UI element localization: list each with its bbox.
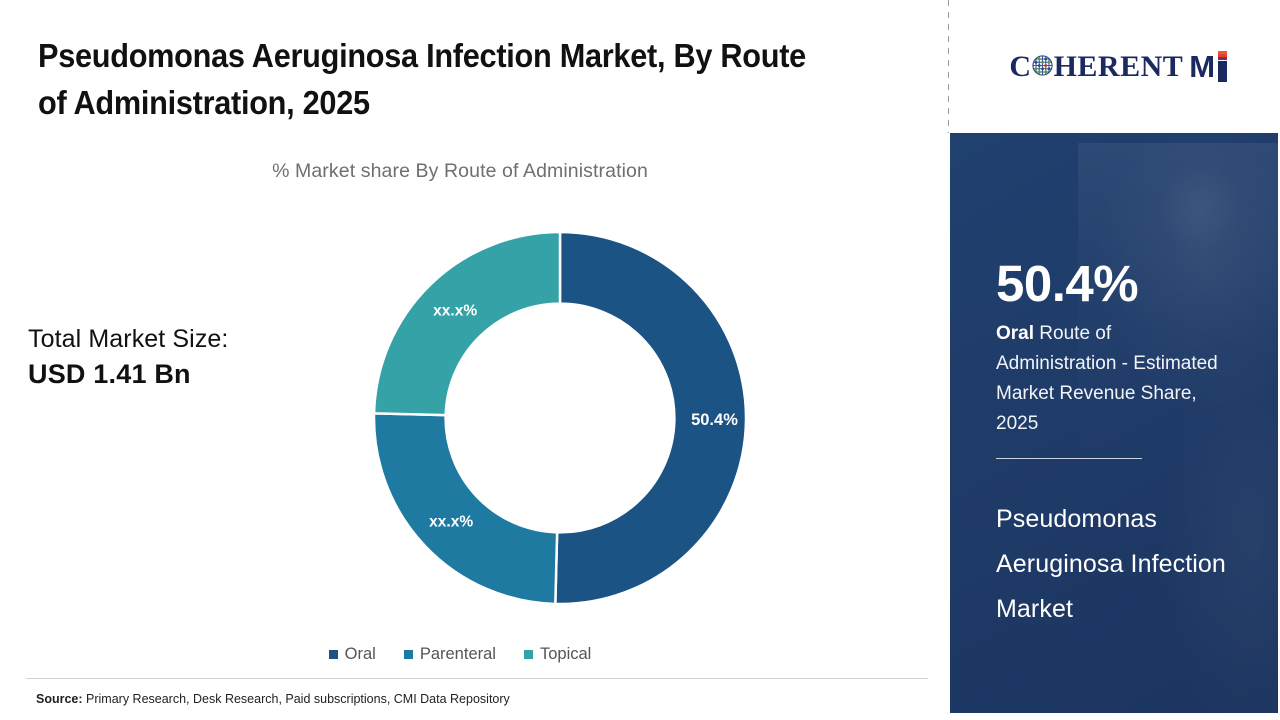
legend-item-topical[interactable]: Topical xyxy=(524,645,591,664)
legend-label: Oral xyxy=(345,645,376,664)
source-label: Source: xyxy=(36,692,83,706)
legend-swatch-icon xyxy=(404,650,413,659)
highlight-market-name: Pseudomonas Aeruginosa Infection Market xyxy=(996,497,1246,632)
donut-slice-label: 50.4% xyxy=(691,411,738,429)
infographic-root: Pseudomonas Aeruginosa Infection Market,… xyxy=(0,0,1280,720)
logo-i-gradient-dot xyxy=(1218,51,1227,60)
legend-swatch-icon xyxy=(524,650,533,659)
logo-text-mi: M xyxy=(1189,51,1226,82)
donut-slice-parenteral[interactable] xyxy=(374,413,557,604)
logo-letter-i-icon xyxy=(1218,51,1227,82)
legend-label: Topical xyxy=(540,645,591,664)
globe-icon xyxy=(1032,55,1053,81)
donut-chart: 50.4%xx.x%xx.x% xyxy=(374,228,746,608)
page-title: Pseudomonas Aeruginosa Infection Market,… xyxy=(38,32,838,126)
chart-legend: Oral Parenteral Topical xyxy=(0,645,920,664)
donut-slice-topical[interactable] xyxy=(374,232,560,415)
chart-subtitle: % Market share By Route of Administratio… xyxy=(0,160,920,183)
chart-panel: Pseudomonas Aeruginosa Infection Market,… xyxy=(0,0,948,720)
footer-divider xyxy=(26,678,928,679)
brand-logo-area: C xyxy=(950,0,1280,133)
donut-slice-label: xx.x% xyxy=(433,302,477,319)
donut-slice-label: xx.x% xyxy=(429,514,473,531)
sidebar-panel: C xyxy=(950,0,1280,720)
highlight-description: Oral Route of Administration - Estimated… xyxy=(996,319,1224,439)
highlight-card-divider xyxy=(996,458,1142,459)
logo-text-c: C xyxy=(1009,52,1031,82)
logo-i-stem xyxy=(1218,61,1227,82)
source-note: Source: Primary Research, Desk Research,… xyxy=(36,692,510,706)
total-market-size: Total Market Size: USD 1.41 Bn xyxy=(28,322,328,392)
total-market-size-value: USD 1.41 Bn xyxy=(28,356,328,392)
highlight-description-bold: Oral xyxy=(996,323,1034,344)
highlight-card: 50.4% Oral Route of Administration - Est… xyxy=(950,133,1278,713)
legend-swatch-icon xyxy=(329,650,338,659)
legend-item-oral[interactable]: Oral xyxy=(329,645,376,664)
logo-text-herent: HERENT xyxy=(1054,52,1184,82)
total-market-size-label: Total Market Size: xyxy=(28,322,328,356)
coherentmi-logo[interactable]: C xyxy=(1009,51,1226,82)
vertical-dashed-divider xyxy=(948,0,949,133)
logo-letter-m: M xyxy=(1189,51,1214,82)
donut-chart-svg: 50.4%xx.x%xx.x% xyxy=(374,228,746,608)
legend-item-parenteral[interactable]: Parenteral xyxy=(404,645,496,664)
source-text: Primary Research, Desk Research, Paid su… xyxy=(83,692,510,706)
legend-label: Parenteral xyxy=(420,645,496,664)
highlight-percent: 50.4% xyxy=(996,258,1138,309)
